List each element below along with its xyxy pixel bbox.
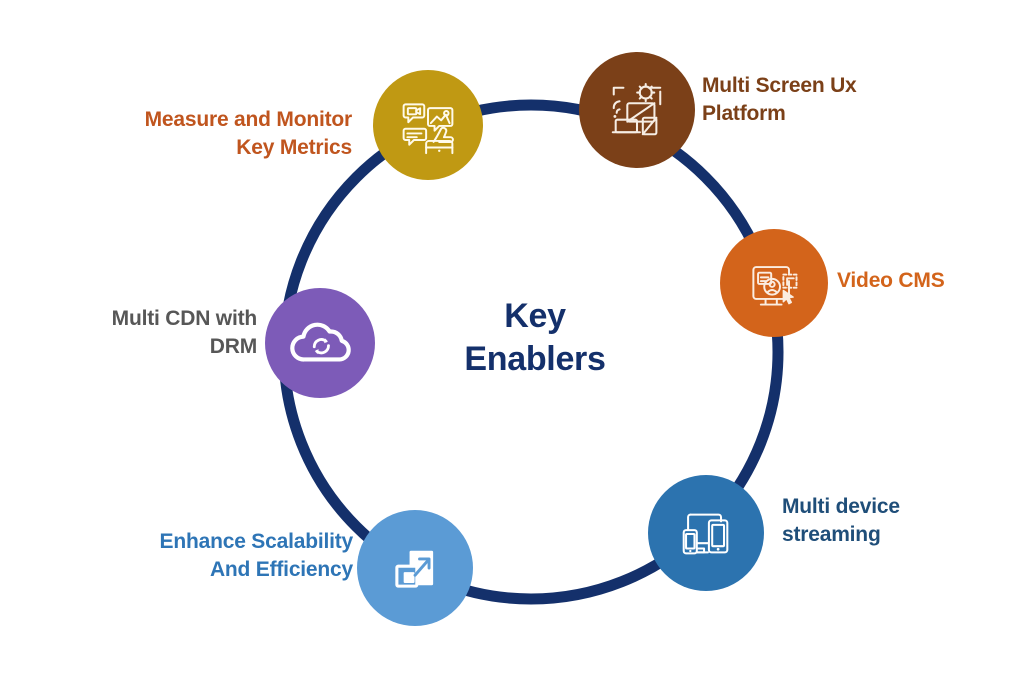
media-analytics-hand-phone-icon bbox=[398, 95, 458, 155]
resize-expand-arrow-icon bbox=[386, 539, 444, 597]
node-multi-cdn-with-drm[interactable] bbox=[265, 288, 375, 398]
node-multi-device-streaming[interactable] bbox=[648, 475, 764, 591]
diagram-canvas: Key Enablers Multi Screen Ux Platform bbox=[0, 0, 1024, 677]
cloud-sync-icon bbox=[288, 311, 352, 375]
node-multi-screen-ux-platform[interactable] bbox=[579, 52, 695, 168]
monitor-user-cursor-icon bbox=[744, 253, 804, 313]
center-title-line2: Enablers bbox=[420, 338, 650, 381]
center-title: Key Enablers bbox=[420, 295, 650, 380]
node-label-measure-and-monitor-key-metrics: Measure and Monitor Key Metrics bbox=[84, 106, 352, 161]
multi-screen-devices-gear-icon bbox=[606, 79, 668, 141]
node-label-multi-cdn-with-drm: Multi CDN with DRM bbox=[62, 305, 257, 360]
node-enhance-scalability-and-efficiency[interactable] bbox=[357, 510, 473, 626]
node-label-enhance-scalability-and-efficiency: Enhance Scalability And Efficiency bbox=[108, 528, 353, 583]
center-title-line1: Key bbox=[420, 295, 650, 338]
node-video-cms[interactable] bbox=[720, 229, 828, 337]
node-label-video-cms: Video CMS bbox=[837, 267, 945, 295]
devices-monitor-tablet-phone-icon bbox=[675, 502, 737, 564]
node-measure-and-monitor-key-metrics[interactable] bbox=[373, 70, 483, 180]
node-label-multi-device-streaming: Multi device streaming bbox=[782, 493, 900, 548]
node-label-multi-screen-ux-platform: Multi Screen Ux Platform bbox=[702, 72, 857, 127]
